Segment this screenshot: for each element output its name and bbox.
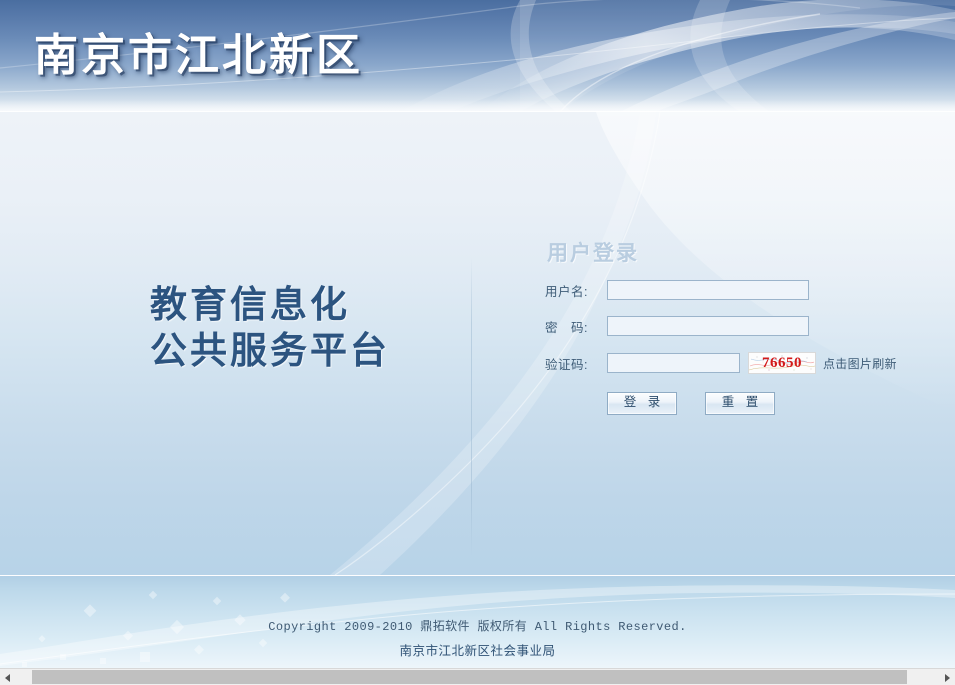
- scrollbar-thumb[interactable]: [32, 670, 907, 684]
- captcha-label: 验证码:: [545, 354, 607, 373]
- username-label: 用户名:: [545, 281, 607, 300]
- captcha-image[interactable]: 76650: [748, 352, 816, 374]
- captcha-input[interactable]: [607, 353, 740, 373]
- footer-copyright: Copyright 2009-2010 鼎拓软件 版权所有 All Rights…: [0, 617, 955, 634]
- slogan-line-2: 公共服务平台: [150, 328, 390, 374]
- site-banner: 南京市江北新区: [0, 0, 955, 112]
- footer-organization: 南京市江北新区社会事业局: [0, 640, 955, 659]
- main-content: 教育信息化 公共服务平台 用户登录 用户名: 密 码: 验证码:: [0, 112, 955, 575]
- captcha-refresh-link[interactable]: 点击图片刷新: [823, 355, 897, 372]
- captcha-row: 验证码: 76650 点击图片刷新: [545, 352, 925, 374]
- password-label: 密 码:: [545, 317, 607, 336]
- site-footer: Copyright 2009-2010 鼎拓软件 版权所有 All Rights…: [0, 575, 955, 669]
- password-input[interactable]: [607, 316, 809, 336]
- scrollbar-track[interactable]: [17, 669, 938, 685]
- username-row: 用户名:: [545, 280, 925, 302]
- slogan-line-1: 教育信息化: [150, 282, 390, 328]
- panel-divider: [471, 257, 472, 557]
- horizontal-scrollbar[interactable]: [0, 668, 955, 685]
- form-buttons: 登 录重 置: [545, 392, 925, 415]
- site-title: 南京市江北新区: [34, 32, 363, 80]
- login-page: 南京市江北新区 教育信息化 公共服务平台 用户登录 用户名:: [0, 0, 955, 685]
- login-heading: 用户登录: [547, 237, 925, 262]
- platform-slogan: 教育信息化 公共服务平台: [150, 282, 390, 374]
- login-panel: 用户登录 用户名: 密 码: 验证码:: [545, 237, 925, 415]
- password-row: 密 码:: [545, 316, 925, 338]
- scroll-left-arrow-icon[interactable]: [0, 669, 17, 685]
- username-input[interactable]: [607, 280, 809, 300]
- reset-button[interactable]: 重 置: [705, 392, 775, 415]
- captcha-text: 76650: [749, 353, 815, 373]
- scroll-right-arrow-icon[interactable]: [938, 669, 955, 685]
- login-button[interactable]: 登 录: [607, 392, 677, 415]
